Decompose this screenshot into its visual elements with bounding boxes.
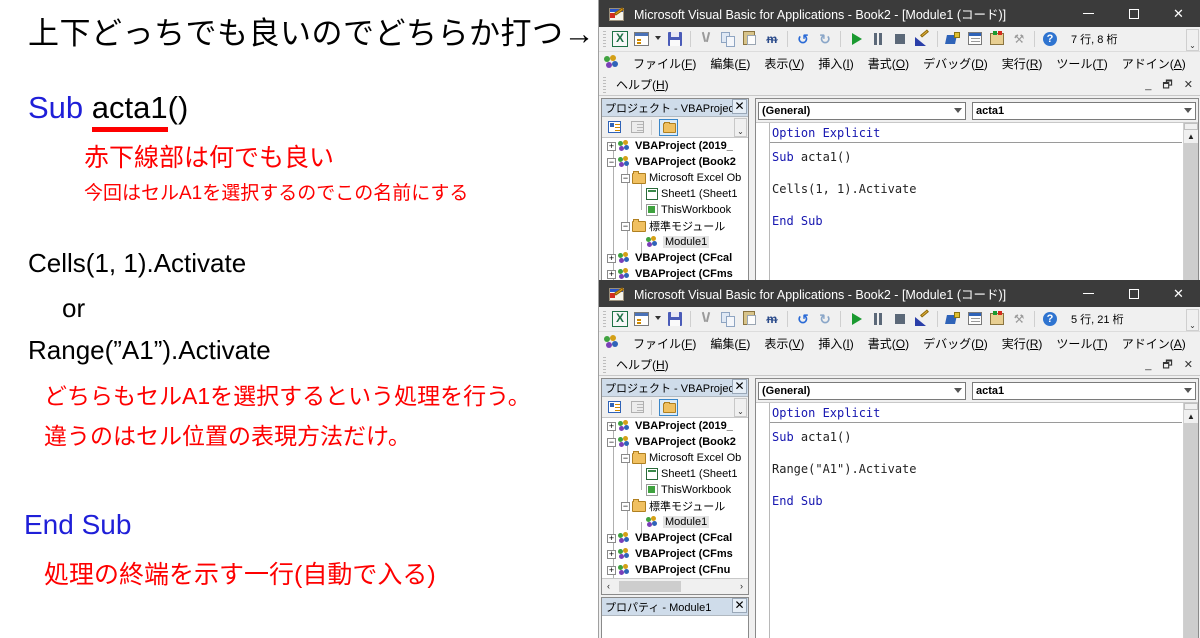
vbe-window-top: Microsoft Visual Basic for Applications … (598, 0, 1200, 280)
workbook-icon (646, 484, 658, 496)
project-tree-hscrollbar[interactable]: ‹ › (602, 578, 748, 594)
note-red-3: どちらもセルA1を選択するという処理を行う。 (44, 385, 531, 408)
menu-view[interactable]: 表示(V) (757, 53, 811, 74)
tree-item-thisworkbook[interactable]: ThisWorkbook (602, 202, 748, 218)
vbaproject-icon (646, 236, 660, 249)
tree-item-label: VBAProject (2019_ (635, 420, 733, 432)
code-editor-bottom[interactable]: Option Explicit Sub acta1() Range("A1").… (756, 403, 1198, 638)
maximize-button[interactable] (1111, 280, 1156, 307)
menu-run[interactable]: 実行(R) (995, 53, 1050, 74)
object-dropdown[interactable]: (General) (758, 382, 966, 400)
vba-app-icon (609, 286, 626, 301)
tree-item-label: VBAProject (CFms (635, 268, 733, 280)
view-code-icon[interactable] (606, 399, 625, 416)
scroll-left-arrow[interactable]: ‹ (602, 580, 615, 593)
menu-file[interactable]: ファイル(F) (626, 333, 703, 354)
object-browser-icon[interactable] (987, 309, 1007, 329)
module-separator-line (770, 422, 1182, 423)
toolbar-separator (1034, 31, 1035, 47)
tree-item-vbaproject-book2[interactable]: − VBAProject (Book2 (602, 434, 748, 450)
save-icon[interactable] (665, 309, 685, 329)
note-red-1: 赤下線部は何でも良い (84, 146, 334, 171)
toolbar-separator (787, 311, 788, 327)
tree-item-standard-modules[interactable]: − 標準モジュール (602, 498, 748, 514)
run-icon[interactable] (846, 309, 866, 329)
vbaproject-icon (618, 548, 632, 561)
sheet-icon (646, 468, 658, 480)
menu-insert[interactable]: 挿入(I) (811, 53, 860, 74)
undo-icon[interactable]: ↺ (793, 309, 813, 329)
mdi-window-controls[interactable]: _ 🗗 ✕ (1145, 356, 1197, 375)
expander-icon[interactable]: + (607, 550, 616, 559)
toolbar-separator (651, 400, 652, 415)
copy-icon[interactable] (718, 309, 738, 329)
close-button[interactable]: ✕ (1156, 0, 1200, 27)
toolbar-separator (840, 31, 841, 47)
standard-toolbar-bottom: ᵯ ↺ ↻ ⚒ ? 5 行, 21 桁 ⌄ (599, 307, 1200, 332)
code-line-cells: Cells(1, 1).Activate (28, 250, 246, 276)
code-statement: Cells(1, 1).Activate (772, 182, 917, 196)
expander-icon[interactable]: − (621, 222, 630, 231)
code-statement: Range("A1").Activate (772, 462, 917, 476)
module-separator-line (770, 142, 1182, 143)
expander-icon[interactable]: − (607, 158, 616, 167)
sub-declaration-line: Sub acta1() (28, 92, 188, 123)
properties-pane: プロパティ - Module1 ✕ (601, 597, 749, 638)
menu-addins[interactable]: アドイン(A) (1115, 333, 1193, 354)
expander-icon[interactable]: + (607, 270, 616, 279)
menu-file[interactable]: ファイル(F) (626, 53, 703, 74)
toggle-folders-icon[interactable] (659, 119, 678, 136)
code-body-bottom[interactable]: Sub acta1() Range("A1").Activate End Sub (772, 429, 1182, 509)
hscroll-thumb[interactable] (619, 581, 681, 592)
explanation-panel: 上下どっちでも良いのでどちらか打つ→ Sub acta1() 赤下線部は何でも良… (0, 0, 598, 638)
tree-item-label: VBAProject (Book2 (635, 436, 736, 448)
view-object-icon[interactable] (629, 399, 648, 416)
sub-keyword: Sub (28, 90, 83, 125)
window-controls: ✕ (1066, 280, 1200, 307)
maximize-button[interactable] (1111, 0, 1156, 27)
tree-item-vbaproject-book2[interactable]: − VBAProject (Book2 (602, 154, 748, 170)
toolbox-icon[interactable]: ⚒ (1009, 309, 1029, 329)
toolbar-separator (690, 311, 691, 327)
properties-titlebar[interactable]: プロパティ - Module1 ✕ (602, 598, 748, 616)
split-bar-handle[interactable] (1184, 123, 1198, 130)
code-gutter (756, 403, 770, 638)
reset-icon[interactable] (890, 29, 910, 49)
tree-item-vbaproject-cfms[interactable]: + VBAProject (CFms (602, 546, 748, 562)
code-end-sub: End Sub (772, 214, 823, 228)
run-icon[interactable] (846, 29, 866, 49)
tree-item-label: Sheet1 (Sheet1 (661, 188, 737, 200)
scroll-up-arrow[interactable]: ▲ (1184, 130, 1198, 143)
expander-icon[interactable]: + (607, 254, 616, 263)
properties-window-icon[interactable] (965, 29, 985, 49)
tree-item-vbaproject-cfcal[interactable]: + VBAProject (CFcal (602, 250, 748, 266)
tree-item-label: VBAProject (Book2 (635, 156, 736, 168)
chevron-down-icon[interactable] (1184, 108, 1192, 113)
object-dropdown-value: (General) (762, 105, 810, 117)
split-bar-handle[interactable] (1184, 403, 1198, 410)
design-mode-icon[interactable] (912, 309, 932, 329)
insert-dropdown-icon[interactable] (654, 29, 663, 49)
help-icon[interactable]: ? (1040, 309, 1060, 329)
menu-help[interactable]: ヘルプ(H) (609, 74, 676, 95)
expander-icon[interactable]: + (607, 566, 616, 575)
view-excel-icon[interactable] (610, 29, 630, 49)
scroll-thumb[interactable] (1184, 143, 1198, 280)
chevron-down-icon[interactable] (954, 388, 962, 393)
scroll-right-arrow[interactable]: › (735, 580, 748, 593)
object-browser-icon[interactable] (987, 29, 1007, 49)
menu-format[interactable]: 書式(O) (861, 333, 916, 354)
project-toolbar-overflow[interactable]: ⌄ (734, 118, 747, 137)
code-sub-keyword: Sub (772, 150, 794, 164)
project-explorer-icon[interactable] (943, 29, 963, 49)
view-excel-icon[interactable] (610, 309, 630, 329)
vba-app-icon (609, 6, 626, 21)
cursor-position-indicator: 5 行, 21 桁 (1071, 311, 1124, 327)
chevron-down-icon[interactable] (1184, 388, 1192, 393)
code-window-bottom: (General) acta1 Option Explicit Sub acta… (755, 378, 1199, 638)
titlebar-top[interactable]: Microsoft Visual Basic for Applications … (599, 0, 1200, 27)
expander-icon[interactable]: − (607, 438, 616, 447)
project-explorer-top: プロジェクト - VBAProject ✕ ⌄ + (601, 98, 749, 280)
project-explorer-titlebar[interactable]: プロジェクト - VBAProject ✕ (602, 99, 748, 117)
view-code-icon[interactable] (606, 119, 625, 136)
code-text-bottom[interactable]: Option Explicit (772, 405, 1182, 421)
expander-icon[interactable]: + (607, 422, 616, 431)
project-explorer-toolbar: ⌄ (602, 397, 748, 418)
tree-item-vbaproject-2019[interactable]: + VBAProject (2019_ (602, 418, 748, 434)
design-mode-icon[interactable] (912, 29, 932, 49)
undo-icon[interactable]: ↺ (793, 29, 813, 49)
expander-icon[interactable]: − (621, 502, 630, 511)
vbaproject-icon (618, 436, 632, 449)
menubar-bottom: ファイル(F) 編集(E) 表示(V) 挿入(I) 書式(O) デバッグ(D) … (599, 332, 1200, 354)
code-sub-keyword: Sub (772, 430, 794, 444)
menu-help[interactable]: ヘルプ(H) (609, 354, 676, 375)
redo-icon[interactable]: ↻ (815, 29, 835, 49)
vba-logo-icon (604, 55, 622, 71)
menu-format[interactable]: 書式(O) (861, 53, 916, 74)
toggle-folders-icon[interactable] (659, 399, 678, 416)
insert-userform-icon[interactable] (632, 29, 652, 49)
find-icon[interactable]: ᵯ (762, 29, 782, 49)
tree-item-vbaproject-cfms[interactable]: + VBAProject (CFms (602, 266, 748, 280)
menu-addins[interactable]: アドイン(A) (1115, 53, 1193, 74)
project-explorer-close-icon[interactable]: ✕ (732, 99, 747, 114)
tree-item-label: Microsoft Excel Ob (649, 452, 741, 464)
tree-item-vbaproject-cfnu[interactable]: + VBAProject (CFnu (602, 562, 748, 578)
code-window-top: (General) acta1 Option Explicit Sub acta… (755, 98, 1199, 280)
tree-item-label: ThisWorkbook (661, 204, 731, 216)
menubar-row2-bottom: ヘルプ(H) _ 🗗 ✕ (599, 354, 1200, 376)
chevron-down-icon[interactable] (954, 108, 962, 113)
project-tree-top[interactable]: + VBAProject (2019_ − VBAProject (Book2 … (602, 138, 748, 280)
or-label: or (62, 295, 85, 321)
vbaproject-icon (618, 532, 632, 545)
tree-item-excel-objects[interactable]: − Microsoft Excel Ob (602, 450, 748, 466)
note-red-5: 処理の終端を示す一行(自動で入る) (44, 563, 436, 588)
code-gutter (756, 123, 770, 280)
menu-run[interactable]: 実行(R) (995, 333, 1050, 354)
tree-item-label: VBAProject (CFms (635, 548, 733, 560)
toolbar-separator (787, 31, 788, 47)
vbaproject-icon (618, 252, 632, 265)
expander-icon[interactable]: − (621, 174, 630, 183)
expander-icon[interactable]: + (607, 142, 616, 151)
code-body-top[interactable]: Sub acta1() Cells(1, 1).Activate End Sub (772, 149, 1182, 229)
code-line-range: Range(”A1”).Activate (28, 337, 271, 363)
minimize-button[interactable] (1066, 280, 1111, 307)
toolbar-separator (840, 311, 841, 327)
procedure-dropdown[interactable]: acta1 (972, 382, 1196, 400)
procedure-dropdown[interactable]: acta1 (972, 102, 1196, 120)
menu-edit[interactable]: 編集(E) (703, 53, 757, 74)
sheet-icon (646, 188, 658, 200)
note-red-4: 違うのはセル位置の表現方法だけ。 (44, 425, 411, 448)
window-controls: ✕ (1066, 0, 1200, 27)
workbook-icon (646, 204, 658, 216)
procedure-dropdown-value: acta1 (976, 105, 1004, 117)
help-icon[interactable]: ? (1040, 29, 1060, 49)
redo-icon[interactable]: ↻ (815, 309, 835, 329)
insert-userform-icon[interactable] (632, 309, 652, 329)
code-text-top[interactable]: Option Explicit (772, 125, 1182, 141)
view-object-icon[interactable] (629, 119, 648, 136)
vba-logo-icon (604, 335, 622, 351)
insert-dropdown-icon[interactable] (654, 309, 663, 329)
code-line-option-explicit: Option Explicit (772, 406, 880, 420)
vbaproject-icon (618, 156, 632, 169)
menu-tools[interactable]: ツール(T) (1049, 333, 1114, 354)
properties-body[interactable] (602, 616, 748, 638)
project-explorer-icon[interactable] (943, 309, 963, 329)
end-sub-line: End Sub (24, 511, 131, 539)
project-explorer-toolbar: ⌄ (602, 117, 748, 138)
vbaproject-icon (618, 268, 632, 281)
code-sub-name: acta1() (794, 150, 852, 164)
menu-view[interactable]: 表示(V) (757, 333, 811, 354)
screenshot-root: 上下どっちでも良いのでどちらか打つ→ Sub acta1() 赤下線部は何でも良… (0, 0, 1200, 638)
object-dropdown-value: (General) (762, 385, 810, 397)
heading-text: 上下どっちでも良いのでどちらか打つ→ (28, 18, 595, 49)
find-icon[interactable]: ᵯ (762, 309, 782, 329)
tree-item-standard-modules[interactable]: − 標準モジュール (602, 218, 748, 234)
menu-debug[interactable]: デバッグ(D) (916, 333, 995, 354)
menu-window[interactable]: ウィンドウ(W) (1193, 53, 1200, 74)
menubar-grip[interactable] (603, 77, 606, 93)
tree-item-label: 標準モジュール (649, 218, 725, 234)
toolbar-overflow-button[interactable]: ⌄ (1186, 29, 1199, 51)
code-editor-top[interactable]: Option Explicit Sub acta1() Cells(1, 1).… (756, 123, 1198, 280)
properties-close-icon[interactable]: ✕ (732, 598, 747, 613)
cursor-position-indicator: 7 行, 8 桁 (1071, 31, 1117, 47)
menu-window[interactable]: ウィンドウ(W) (1193, 333, 1200, 354)
tree-item-vbaproject-2019[interactable]: + VBAProject (2019_ (602, 138, 748, 154)
vbaproject-icon (618, 564, 632, 577)
scroll-thumb[interactable] (1184, 423, 1198, 638)
code-sub-name: acta1() (794, 430, 852, 444)
project-explorer-titlebar[interactable]: プロジェクト - VBAProject ✕ (602, 379, 748, 397)
close-button[interactable]: ✕ (1156, 280, 1200, 307)
cut-icon[interactable] (696, 29, 716, 49)
tree-item-thisworkbook[interactable]: ThisWorkbook (602, 482, 748, 498)
procedure-dropdown-value: acta1 (976, 385, 1004, 397)
tree-item-vbaproject-cfcal[interactable]: + VBAProject (CFcal (602, 530, 748, 546)
tree-item-label: VBAProject (2019_ (635, 140, 733, 152)
object-dropdown[interactable]: (General) (758, 102, 966, 120)
menu-insert[interactable]: 挿入(I) (811, 333, 860, 354)
cut-icon[interactable] (696, 309, 716, 329)
folder-icon (632, 221, 646, 232)
menu-edit[interactable]: 編集(E) (703, 333, 757, 354)
toolbox-icon[interactable]: ⚒ (1009, 29, 1029, 49)
menubar-top: ファイル(F) 編集(E) 表示(V) 挿入(I) 書式(O) デバッグ(D) … (599, 52, 1200, 74)
menu-debug[interactable]: デバッグ(D) (916, 53, 995, 74)
paste-icon[interactable] (740, 29, 760, 49)
expander-icon[interactable]: + (607, 534, 616, 543)
code-line-option-explicit: Option Explicit (772, 126, 880, 140)
menubar-row2-top: ヘルプ(H) _ 🗗 ✕ (599, 74, 1200, 96)
sub-name-underlined: acta1 (92, 90, 168, 125)
scroll-up-arrow[interactable]: ▲ (1184, 410, 1198, 423)
paste-icon[interactable] (740, 309, 760, 329)
vbe-window-bottom: Microsoft Visual Basic for Applications … (598, 280, 1200, 638)
break-icon[interactable] (868, 29, 888, 49)
tree-item-label: Microsoft Excel Ob (649, 172, 741, 184)
project-explorer-bottom: プロジェクト - VBAProject ✕ ⌄ + (601, 378, 749, 595)
tree-item-label: ThisWorkbook (661, 484, 731, 496)
folder-icon (632, 501, 646, 512)
properties-window-icon[interactable] (965, 309, 985, 329)
titlebar-bottom[interactable]: Microsoft Visual Basic for Applications … (599, 280, 1200, 307)
toolbar-separator (937, 31, 938, 47)
vbaproject-icon (618, 420, 632, 433)
project-explorer-title: プロジェクト - VBAProject (605, 380, 737, 396)
window-title: Microsoft Visual Basic for Applications … (634, 4, 1006, 23)
project-explorer-close-icon[interactable]: ✕ (732, 379, 747, 394)
break-icon[interactable] (868, 309, 888, 329)
tree-item-label: VBAProject (CFcal (635, 252, 732, 264)
tree-item-label: Module1 (663, 516, 709, 528)
code-end-sub: End Sub (772, 494, 823, 508)
folder-icon (632, 173, 646, 184)
folder-icon (632, 453, 646, 464)
vbaproject-icon (646, 516, 660, 529)
mdi-window-controls[interactable]: _ 🗗 ✕ (1145, 76, 1197, 95)
toolbar-separator (651, 120, 652, 135)
tree-item-excel-objects[interactable]: − Microsoft Excel Ob (602, 170, 748, 186)
tree-item-sheet1[interactable]: Sheet1 (Sheet1 (602, 466, 748, 482)
vbaproject-icon (618, 140, 632, 153)
tree-item-label: Module1 (663, 236, 709, 248)
code-window-dropdown-bar: (General) acta1 (756, 379, 1198, 403)
properties-title: プロパティ - Module1 (605, 599, 711, 615)
tree-item-label: Sheet1 (Sheet1 (661, 468, 737, 480)
tree-item-module1[interactable]: Module1 (602, 234, 748, 250)
project-toolbar-overflow[interactable]: ⌄ (734, 398, 747, 417)
tree-item-sheet1[interactable]: Sheet1 (Sheet1 (602, 186, 748, 202)
toolbar-grip[interactable] (603, 31, 606, 47)
code-vertical-scrollbar[interactable]: ▲ (1183, 403, 1198, 638)
note-red-2: 今回はセルA1を選択するのでこの名前にする (84, 184, 468, 203)
toolbar-separator (1034, 311, 1035, 327)
code-vertical-scrollbar[interactable]: ▲ (1183, 123, 1198, 280)
tree-item-label: VBAProject (CFnu (635, 564, 730, 576)
tree-item-label: 標準モジュール (649, 498, 725, 514)
hscroll-track[interactable] (615, 580, 735, 593)
copy-icon[interactable] (718, 29, 738, 49)
workspace-top: プロジェクト - VBAProject ✕ ⌄ + (599, 96, 1200, 280)
toolbar-grip[interactable] (603, 311, 606, 327)
menu-tools[interactable]: ツール(T) (1049, 53, 1114, 74)
menu-file-label: ファイル( (633, 57, 685, 71)
save-icon[interactable] (665, 29, 685, 49)
toolbar-separator (937, 311, 938, 327)
menubar-grip[interactable] (603, 357, 606, 373)
expander-icon[interactable]: − (621, 454, 630, 463)
project-tree-bottom[interactable]: + VBAProject (2019_ − VBAProject (Book2 … (602, 418, 748, 578)
toolbar-overflow-button[interactable]: ⌄ (1186, 309, 1199, 331)
window-title: Microsoft Visual Basic for Applications … (634, 284, 1006, 303)
sub-parens: () (168, 90, 189, 125)
tree-item-label: VBAProject (CFcal (635, 532, 732, 544)
standard-toolbar-top: ᵯ ↺ ↻ ⚒ ? 7 行, 8 桁 ⌄ (599, 27, 1200, 52)
tree-item-module1[interactable]: Module1 (602, 514, 748, 530)
project-explorer-title: プロジェクト - VBAProject (605, 100, 737, 116)
minimize-button[interactable] (1066, 0, 1111, 27)
workspace-bottom: プロジェクト - VBAProject ✕ ⌄ + (599, 376, 1200, 638)
reset-icon[interactable] (890, 309, 910, 329)
toolbar-separator (690, 31, 691, 47)
code-window-dropdown-bar: (General) acta1 (756, 99, 1198, 123)
